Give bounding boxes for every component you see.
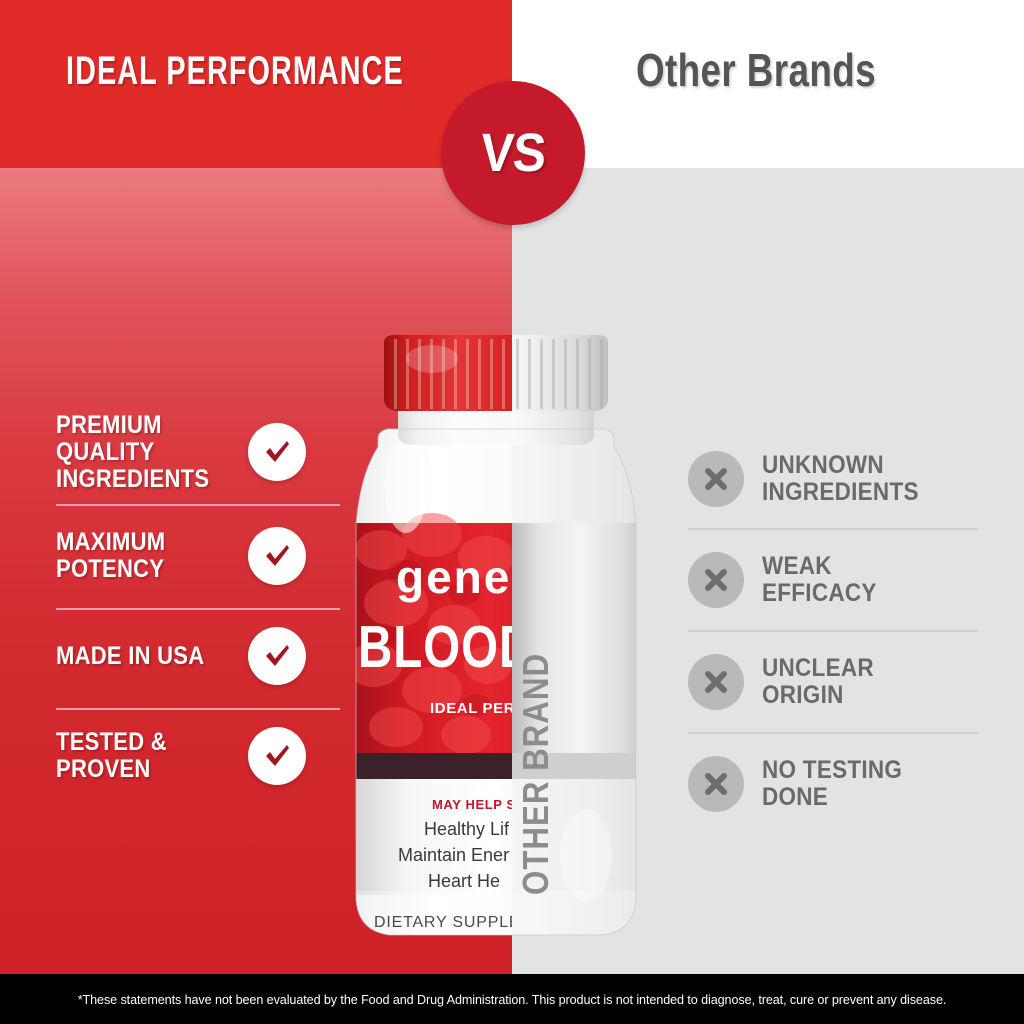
left-feature-list: PREMIUM QUALITY INGREDIENTS MAXIMUM POTE… <box>0 400 340 806</box>
right-column-title: Other Brands <box>636 44 876 96</box>
check-icon <box>248 727 306 785</box>
bottle-benefit-2: Maintain Ener <box>398 845 509 865</box>
x-icon <box>688 654 744 710</box>
feature-row-premium-quality-ingredients: PREMIUM QUALITY INGREDIENTS <box>0 400 340 504</box>
feature-label: MAXIMUM POTENCY <box>56 529 165 583</box>
fda-disclaimer: *These statements have not been evaluate… <box>15 974 1008 1024</box>
feature-row-maximum-potency: MAXIMUM POTENCY <box>0 506 340 606</box>
feature-row-made-in-usa: MADE IN USA <box>0 608 340 704</box>
vs-label: VS <box>479 122 547 184</box>
bottle-supplement-line: DIETARY SUPPLEM <box>374 914 535 931</box>
feature-row-unknown-ingredients: UNKNOWN INGREDIENTS <box>688 430 988 528</box>
bottle-brand-text: gene <box>396 551 511 603</box>
feature-label: UNKNOWN INGREDIENTS <box>762 452 919 506</box>
bottle-benefit-1: Healthy Lif <box>424 819 510 839</box>
feature-row-tested-proven: TESTED & PROVEN <box>0 706 340 806</box>
vs-badge: VS <box>441 81 585 225</box>
feature-row-weak-efficacy: WEAK EFFICACY <box>688 530 988 630</box>
check-icon <box>248 423 306 481</box>
check-icon <box>248 627 306 685</box>
feature-label: PREMIUM QUALITY INGREDIENTS <box>56 412 209 493</box>
x-icon <box>688 451 744 507</box>
x-icon <box>688 756 744 812</box>
comparison-infographic: IDEAL PERFORMANCE Other Brands VS <box>0 0 1024 1024</box>
other-brand-vertical-label: OTHER BRAND <box>516 653 557 895</box>
left-column-title: IDEAL PERFORMANCE <box>66 48 340 94</box>
bottle-benefit-3: Heart He <box>428 871 500 891</box>
feature-row-no-testing-done: NO TESTING DONE <box>688 734 988 834</box>
check-icon <box>248 527 306 585</box>
feature-label: MADE IN USA <box>56 643 204 670</box>
feature-row-unclear-origin: UNCLEAR ORIGIN <box>688 632 988 732</box>
feature-label: WEAK EFFICACY <box>762 553 877 607</box>
right-feature-list: UNKNOWN INGREDIENTS WEAK EFFICACY <box>688 430 1008 834</box>
feature-label: UNCLEAR ORIGIN <box>762 655 874 709</box>
feature-label: NO TESTING DONE <box>762 757 902 811</box>
product-bottle-image: gene BLOOD C IDEAL PERFOR MAY HELP SUP H… <box>336 335 656 953</box>
x-icon <box>688 552 744 608</box>
feature-label: TESTED & PROVEN <box>56 729 167 783</box>
